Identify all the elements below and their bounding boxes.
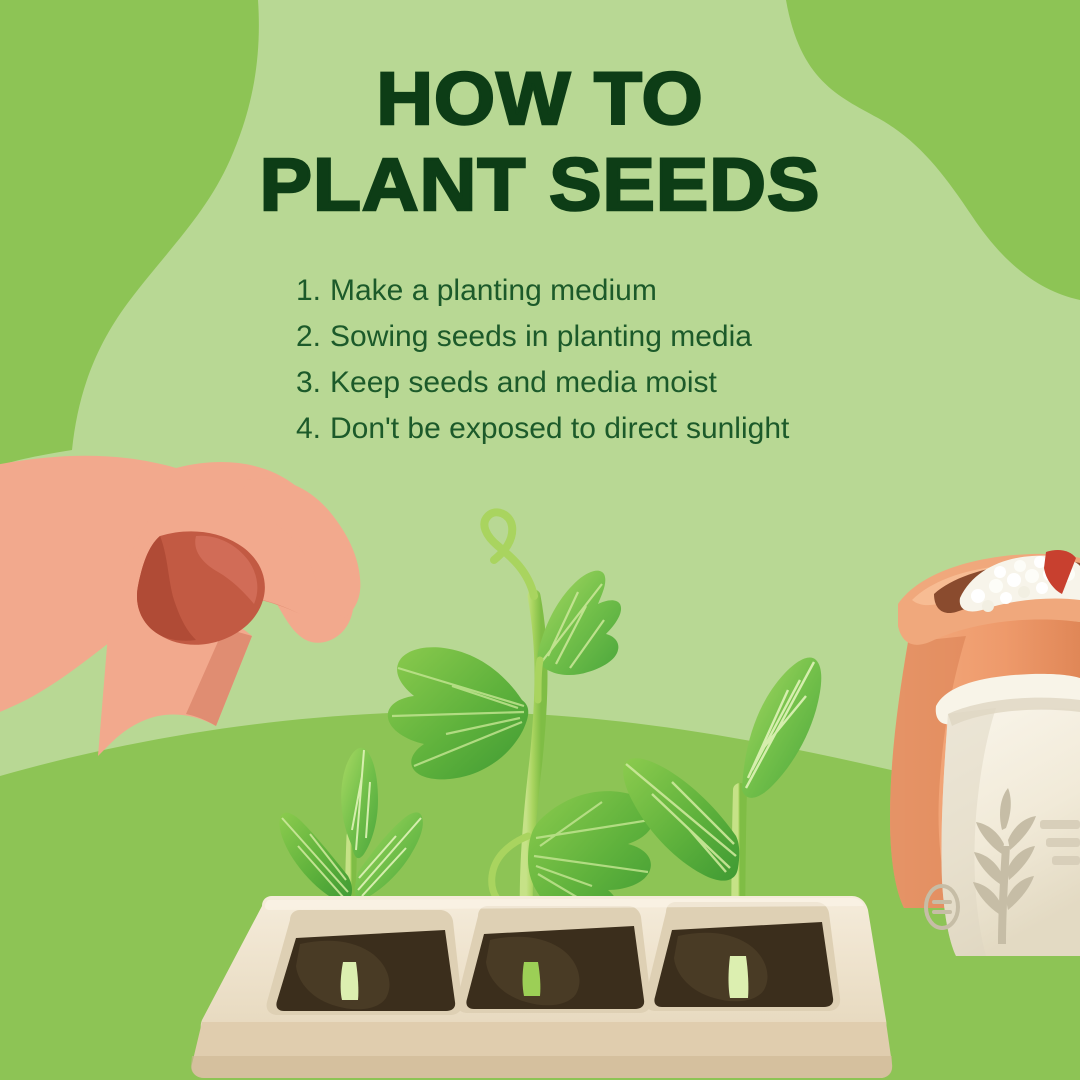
illustration-layer [0,0,1080,1080]
middle-branch-top [538,660,540,700]
seedling-tray [191,896,892,1078]
infographic-poster: HOW TO PLANT SEEDS 1. Make a planting me… [0,0,1080,1080]
step-text: Don't be exposed to direct sunlight [330,406,789,452]
step-number: 3. [296,360,330,406]
tray-base-shadow [191,1056,892,1078]
steps-list: 1. Make a planting medium 2. Sowing seed… [296,268,789,452]
paper-seed-bag [926,674,1080,956]
list-item: 4. Don't be exposed to direct sunlight [296,406,789,452]
step-number: 1. [296,268,330,314]
tray-cell-2 [457,906,652,1013]
step-number: 2. [296,314,330,360]
stem-stub-left [341,962,359,1000]
list-item: 2. Sowing seeds in planting media [296,314,789,360]
step-text: Make a planting medium [330,268,657,314]
tray-cell-1 [267,910,463,1015]
middle-leaf-top [538,571,621,675]
middle-tendril [484,512,534,596]
list-item: 1. Make a planting medium [296,268,789,314]
step-text: Sowing seeds in planting media [330,314,752,360]
right-leaf-upper [742,658,821,798]
stem-stub-right [729,956,749,998]
step-text: Keep seeds and media moist [330,360,717,406]
hand-illustration [0,456,360,756]
stem-stub-middle [523,962,541,996]
list-item: 3. Keep seeds and media moist [296,360,789,406]
step-number: 4. [296,406,330,452]
